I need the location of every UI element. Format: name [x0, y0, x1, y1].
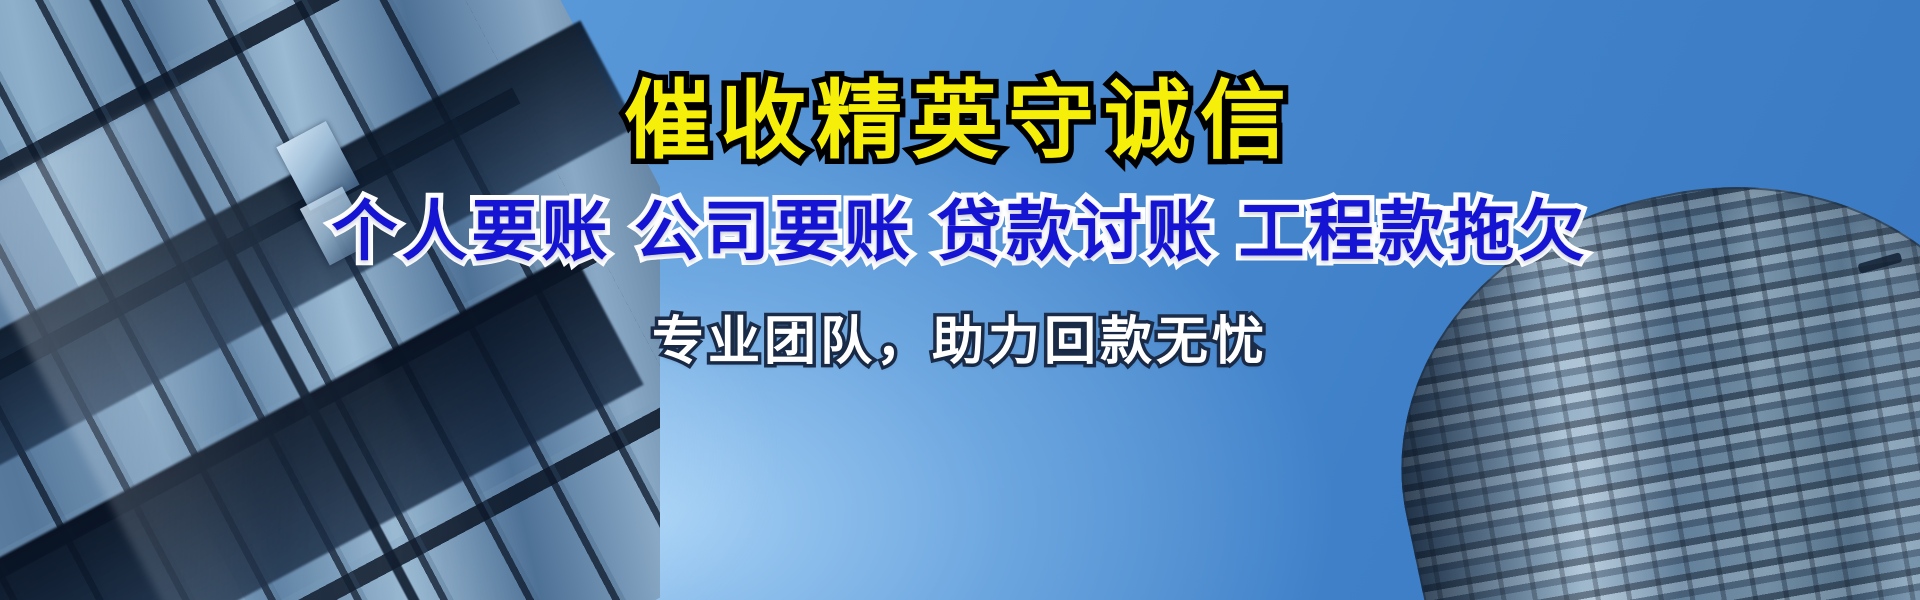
- banner-tagline: 专业团队，助力回款无忧: [652, 316, 1268, 368]
- banner-headline: 催收精英守诚信: [624, 78, 1296, 164]
- banner-copy: 催收精英守诚信 个人要账 公司要账 贷款讨账 工程款拖欠 专业团队，助力回款无忧: [0, 0, 1920, 600]
- banner-service-list: 个人要账 公司要账 贷款讨账 工程款拖欠: [331, 198, 1588, 264]
- promo-banner: 催收精英守诚信 个人要账 公司要账 贷款讨账 工程款拖欠 专业团队，助力回款无忧: [0, 0, 1920, 600]
